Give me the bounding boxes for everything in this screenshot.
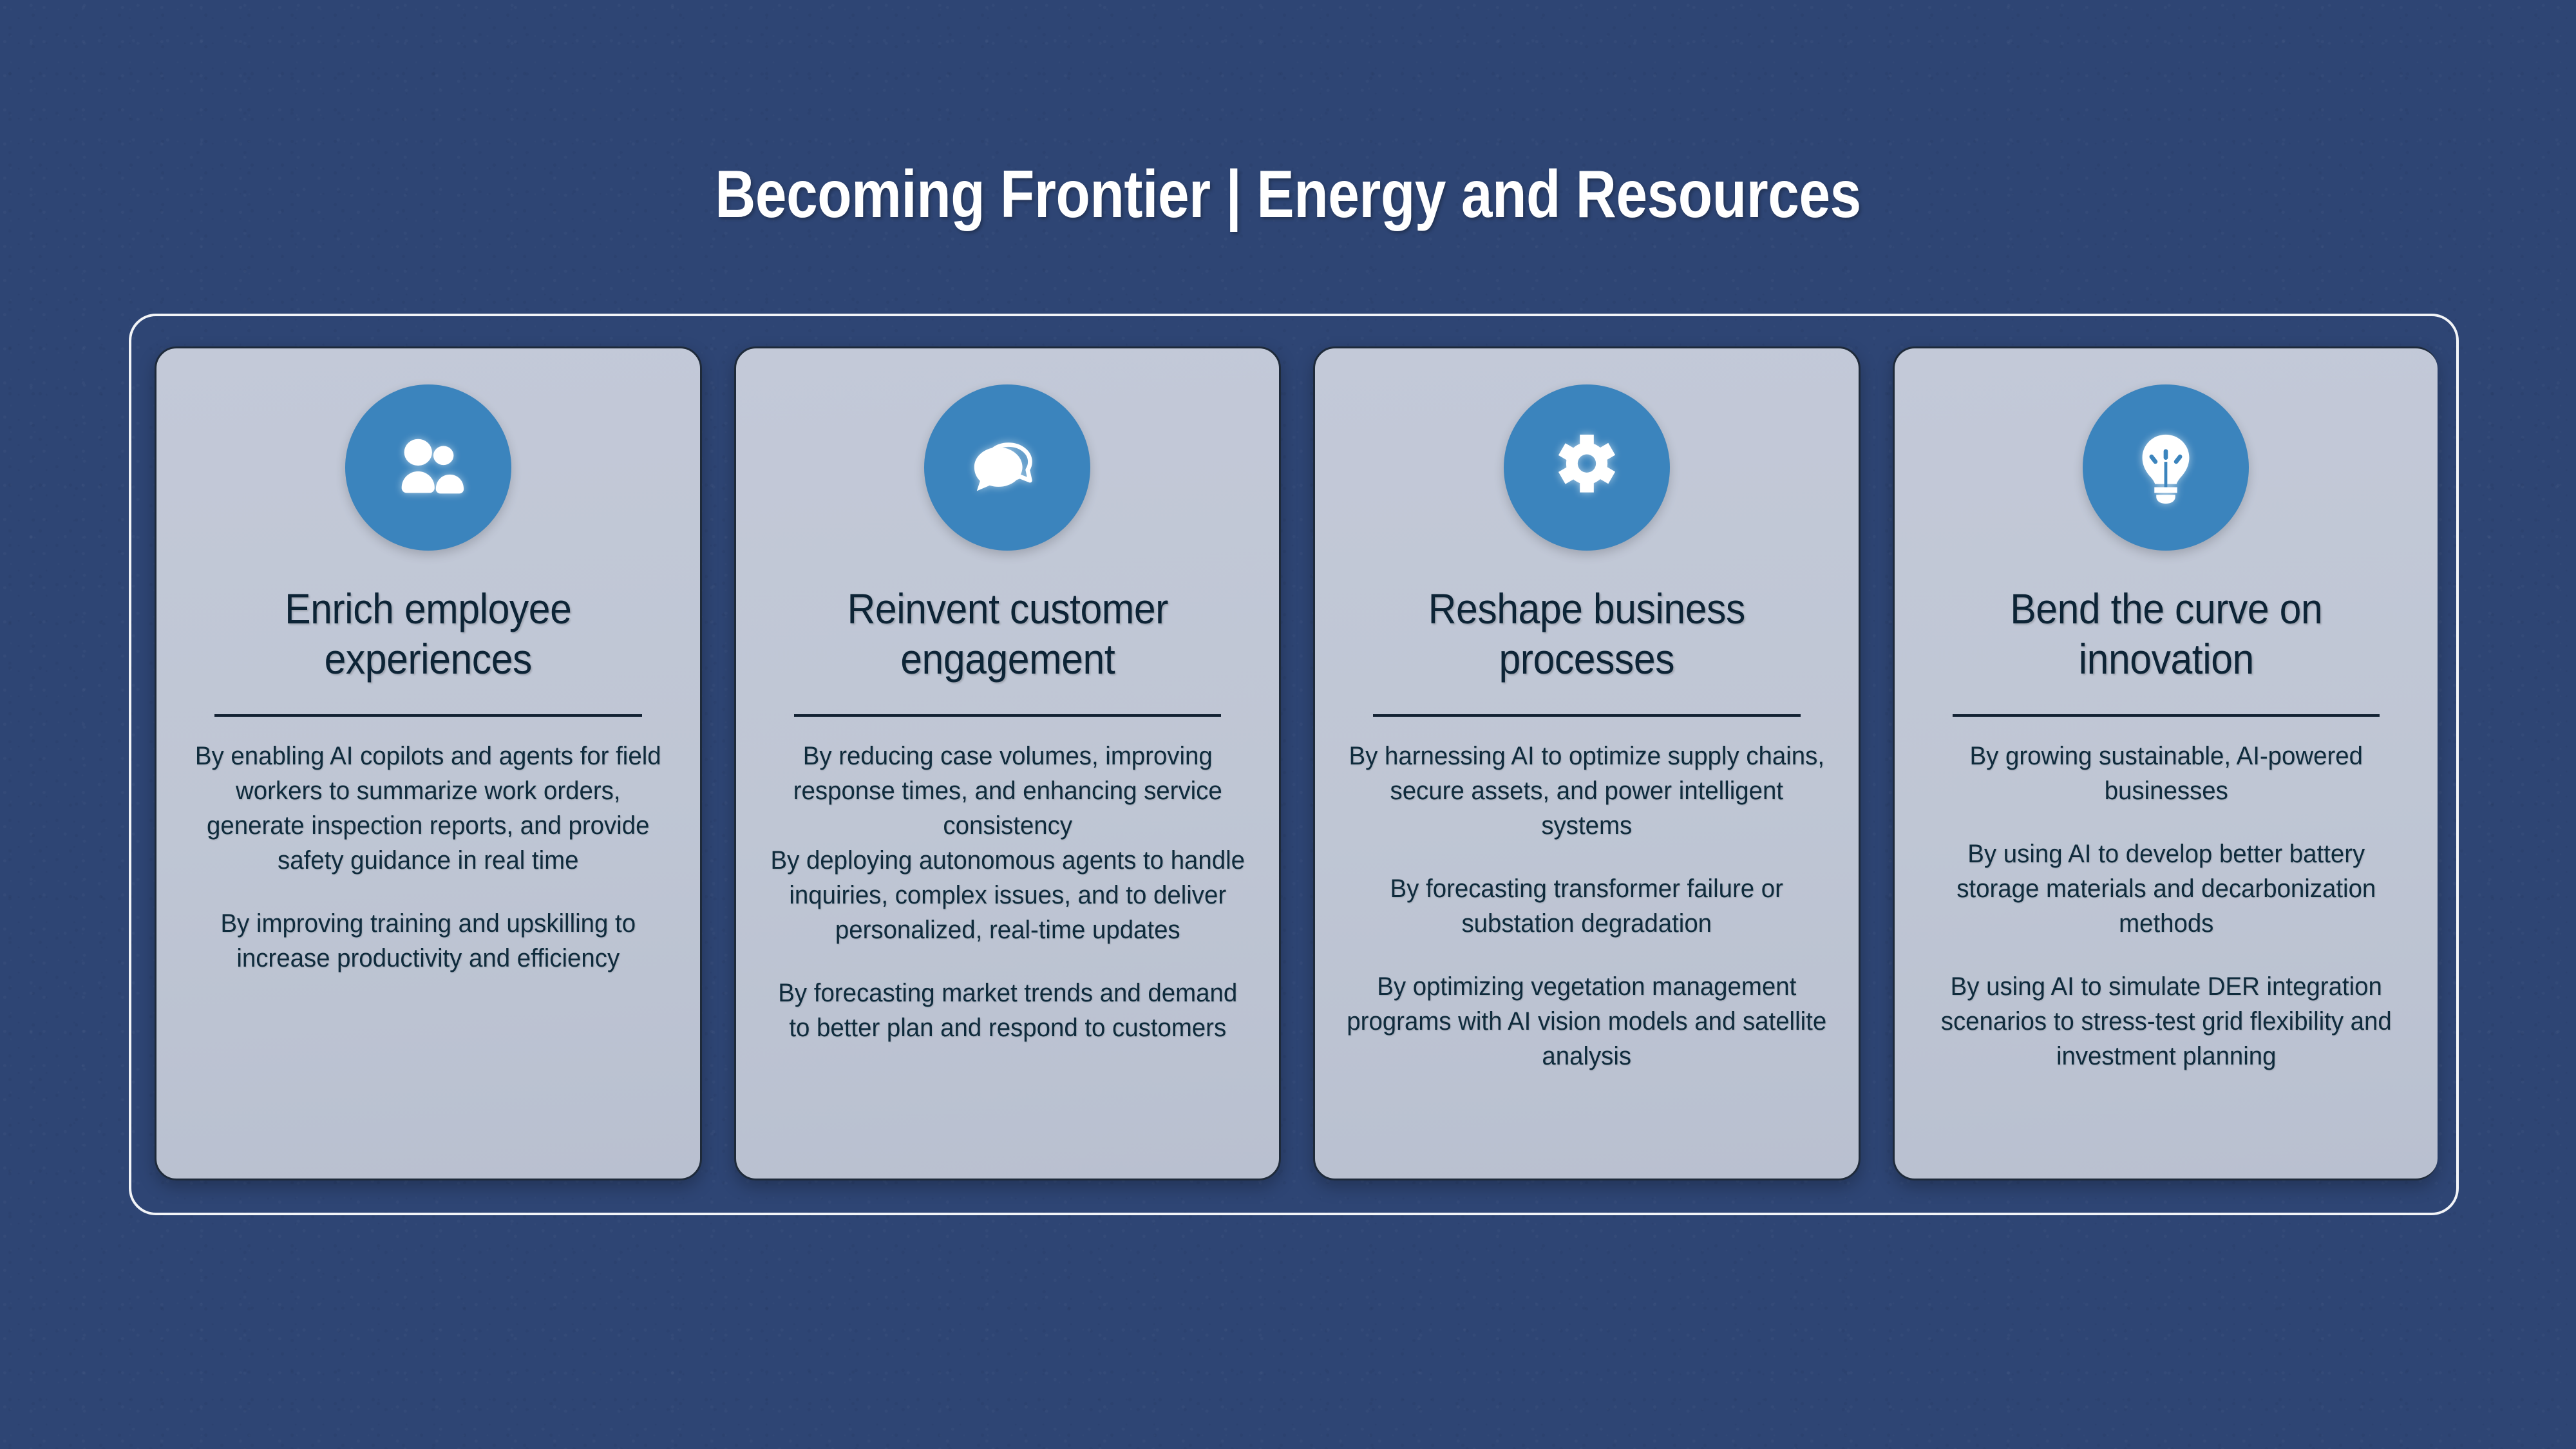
gear-icon [1504,384,1670,551]
card-divider [1373,714,1801,717]
card-reinvent-customer-engagement[interactable]: Reinvent customer engagement By reducing… [734,346,1282,1180]
card-paragraph: By using AI to simulate DER integration … [1924,969,2408,1074]
card-paragraph: By forecasting market trends and demand … [765,976,1249,1045]
card-heading: Reinvent customer engagement [775,584,1240,685]
page-title: Becoming Frontier | Energy and Resources [206,160,2370,230]
card-bend-the-curve-on-innovation[interactable]: Bend the curve on innovation By growing … [1893,346,2438,1180]
card-heading: Bend the curve on innovation [1934,584,2398,685]
card-reshape-business-processes[interactable]: Reshape business processes By harnessing… [1313,346,1861,1180]
card-body: By enabling AI copilots and agents for f… [186,739,670,976]
card-paragraph: By reducing case volumes, improving resp… [765,739,1249,843]
card-body: By reducing case volumes, improving resp… [765,739,1249,1045]
card-paragraph: By forecasting transformer failure or su… [1345,871,1829,941]
card-paragraph: By growing sustainable, AI-powered busin… [1924,739,2408,808]
card-body: By harnessing AI to optimize supply chai… [1345,739,1829,1074]
card-paragraph: By optimizing vegetation management prog… [1345,969,1829,1074]
card-body: By growing sustainable, AI-powered busin… [1924,739,2408,1074]
card-heading: Reshape business processes [1354,584,1819,685]
card-paragraph: By harnessing AI to optimize supply chai… [1345,739,1829,843]
card-divider [794,714,1222,717]
lightbulb-icon [2083,384,2249,551]
card-paragraph: By enabling AI copilots and agents for f… [186,739,670,878]
card-heading: Enrich employee experiences [196,584,660,685]
people-icon [345,384,511,551]
card-divider [214,714,642,717]
card-paragraph: By improving training and upskilling to … [186,906,670,976]
chat-bubbles-icon [924,384,1090,551]
cards-row: Enrich employee experiences By enabling … [155,346,2438,1180]
card-paragraph: By using AI to develop better battery st… [1924,837,2408,941]
card-paragraph: By deploying autonomous agents to handle… [765,843,1249,947]
card-divider [1953,714,2380,717]
card-enrich-employee-experiences[interactable]: Enrich employee experiences By enabling … [155,346,702,1180]
